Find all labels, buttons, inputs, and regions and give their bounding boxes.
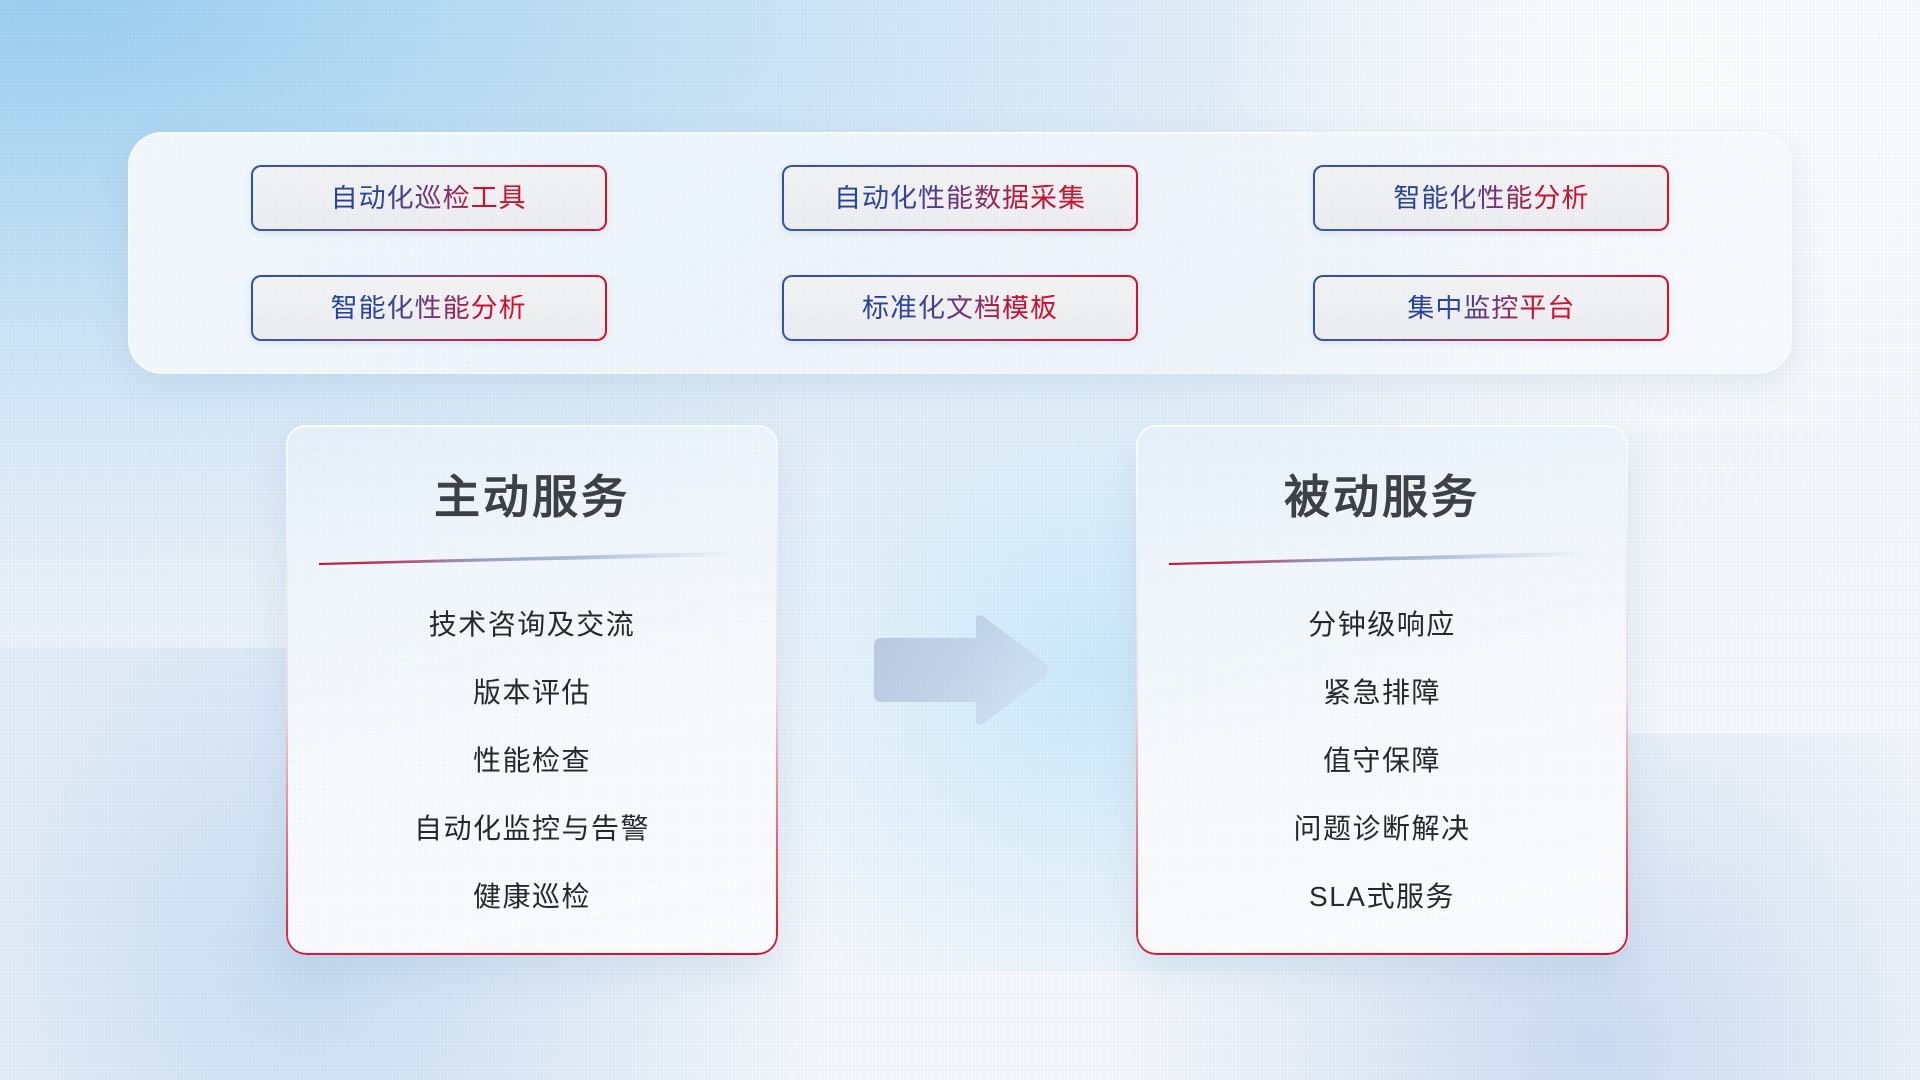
service-item: 紧急排障 bbox=[1323, 659, 1441, 727]
service-item: 问题诊断解决 bbox=[1293, 795, 1470, 863]
service-item-list: 技术咨询及交流版本评估性能检查自动化监控与告警健康巡检 bbox=[286, 591, 778, 931]
divider-shape bbox=[319, 551, 745, 565]
slide-canvas: 自动化巡检工具自动化性能数据采集智能化性能分析智能化性能分析标准化文档模板集中监… bbox=[0, 0, 1920, 1080]
service-item: 版本评估 bbox=[473, 659, 591, 727]
service-card-proactive: 主动服务 技术咨询及交流版本评估性能检查自动化监控与告警健康巡检 bbox=[286, 425, 778, 955]
capability-pill-label: 标准化文档模板 bbox=[862, 295, 1058, 322]
card-title-divider bbox=[319, 551, 745, 565]
divider-shape bbox=[1169, 551, 1595, 565]
capability-pill-auto-perf-data-collection[interactable]: 自动化性能数据采集 bbox=[782, 165, 1138, 231]
service-item: 性能检查 bbox=[473, 727, 591, 795]
capability-pill-inner: 自动化性能数据采集 bbox=[784, 167, 1136, 229]
capability-pill-auto-inspection-tool[interactable]: 自动化巡检工具 bbox=[251, 165, 607, 231]
service-item: 分钟级响应 bbox=[1308, 591, 1456, 659]
capability-pill-label: 智能化性能分析 bbox=[1393, 185, 1589, 212]
capability-pill-inner: 智能化性能分析 bbox=[1315, 167, 1667, 229]
service-card-reactive: 被动服务 分钟级响应紧急排障值守保障问题诊断解决SLA式服务 bbox=[1136, 425, 1628, 955]
capability-panel: 自动化巡检工具自动化性能数据采集智能化性能分析智能化性能分析标准化文档模板集中监… bbox=[128, 132, 1792, 374]
service-item: 健康巡检 bbox=[473, 863, 591, 931]
service-item: 自动化监控与告警 bbox=[414, 795, 650, 863]
service-item: 值守保障 bbox=[1323, 727, 1441, 795]
card-title-divider bbox=[1169, 551, 1595, 565]
flow-arrow bbox=[868, 612, 1052, 728]
capability-pill-standard-doc-template[interactable]: 标准化文档模板 bbox=[782, 275, 1138, 341]
capability-pill-intelligent-perf-analysis-1[interactable]: 智能化性能分析 bbox=[1313, 165, 1669, 231]
service-item: 技术咨询及交流 bbox=[429, 591, 636, 659]
capability-pill-inner: 标准化文档模板 bbox=[784, 277, 1136, 339]
card-title: 被动服务 bbox=[1136, 461, 1628, 527]
capability-pill-inner: 集中监控平台 bbox=[1315, 277, 1667, 339]
capability-pill-label: 自动化性能数据采集 bbox=[834, 185, 1086, 212]
capability-pill-label: 智能化性能分析 bbox=[331, 295, 527, 322]
service-item-list: 分钟级响应紧急排障值守保障问题诊断解决SLA式服务 bbox=[1136, 591, 1628, 931]
right-arrow-icon bbox=[868, 612, 1052, 728]
service-item: SLA式服务 bbox=[1309, 863, 1455, 931]
capability-pill-intelligent-perf-analysis-2[interactable]: 智能化性能分析 bbox=[251, 275, 607, 341]
capability-pill-label: 自动化巡检工具 bbox=[331, 185, 527, 212]
capability-pill-central-monitoring-platform[interactable]: 集中监控平台 bbox=[1313, 275, 1669, 341]
card-title: 主动服务 bbox=[286, 461, 778, 527]
capability-pill-label: 集中监控平台 bbox=[1407, 295, 1575, 322]
capability-pill-inner: 自动化巡检工具 bbox=[253, 167, 605, 229]
capability-pill-inner: 智能化性能分析 bbox=[253, 277, 605, 339]
